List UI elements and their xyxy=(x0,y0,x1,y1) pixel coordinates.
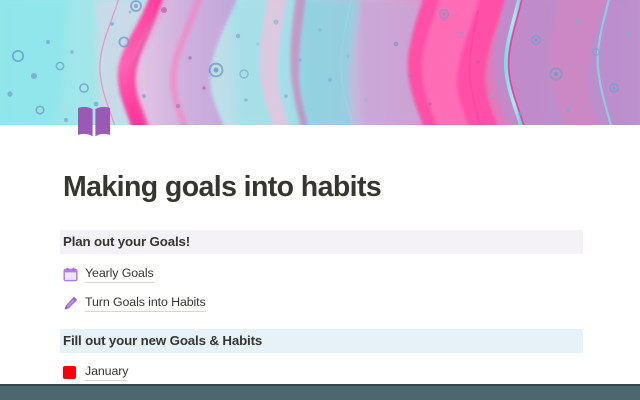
page-link-label: Yearly Goals xyxy=(85,265,154,283)
open-book-icon[interactable] xyxy=(74,101,114,141)
calendar-icon xyxy=(62,266,79,283)
notion-page: Making goals into habits Plan out your G… xyxy=(0,0,640,400)
page-link-january[interactable]: January xyxy=(62,362,640,383)
page-link-yearly-goals[interactable]: Yearly Goals xyxy=(62,264,640,285)
page-link-turn-goals-into-habits[interactable]: Turn Goals into Habits xyxy=(62,293,640,314)
color-swatch-red-icon xyxy=(63,366,76,379)
footer-bar xyxy=(0,386,640,400)
section-heading-plan-goals: Plan out your Goals! xyxy=(60,230,583,254)
page-content: Making goals into habits Plan out your G… xyxy=(0,125,640,400)
page-link-label: January xyxy=(85,363,128,381)
section-heading-fill-goals-habits: Fill out your new Goals & Habits xyxy=(60,329,583,353)
page-title[interactable]: Making goals into habits xyxy=(63,171,640,204)
page-link-label: Turn Goals into Habits xyxy=(85,294,206,312)
pencil-icon xyxy=(62,295,79,312)
